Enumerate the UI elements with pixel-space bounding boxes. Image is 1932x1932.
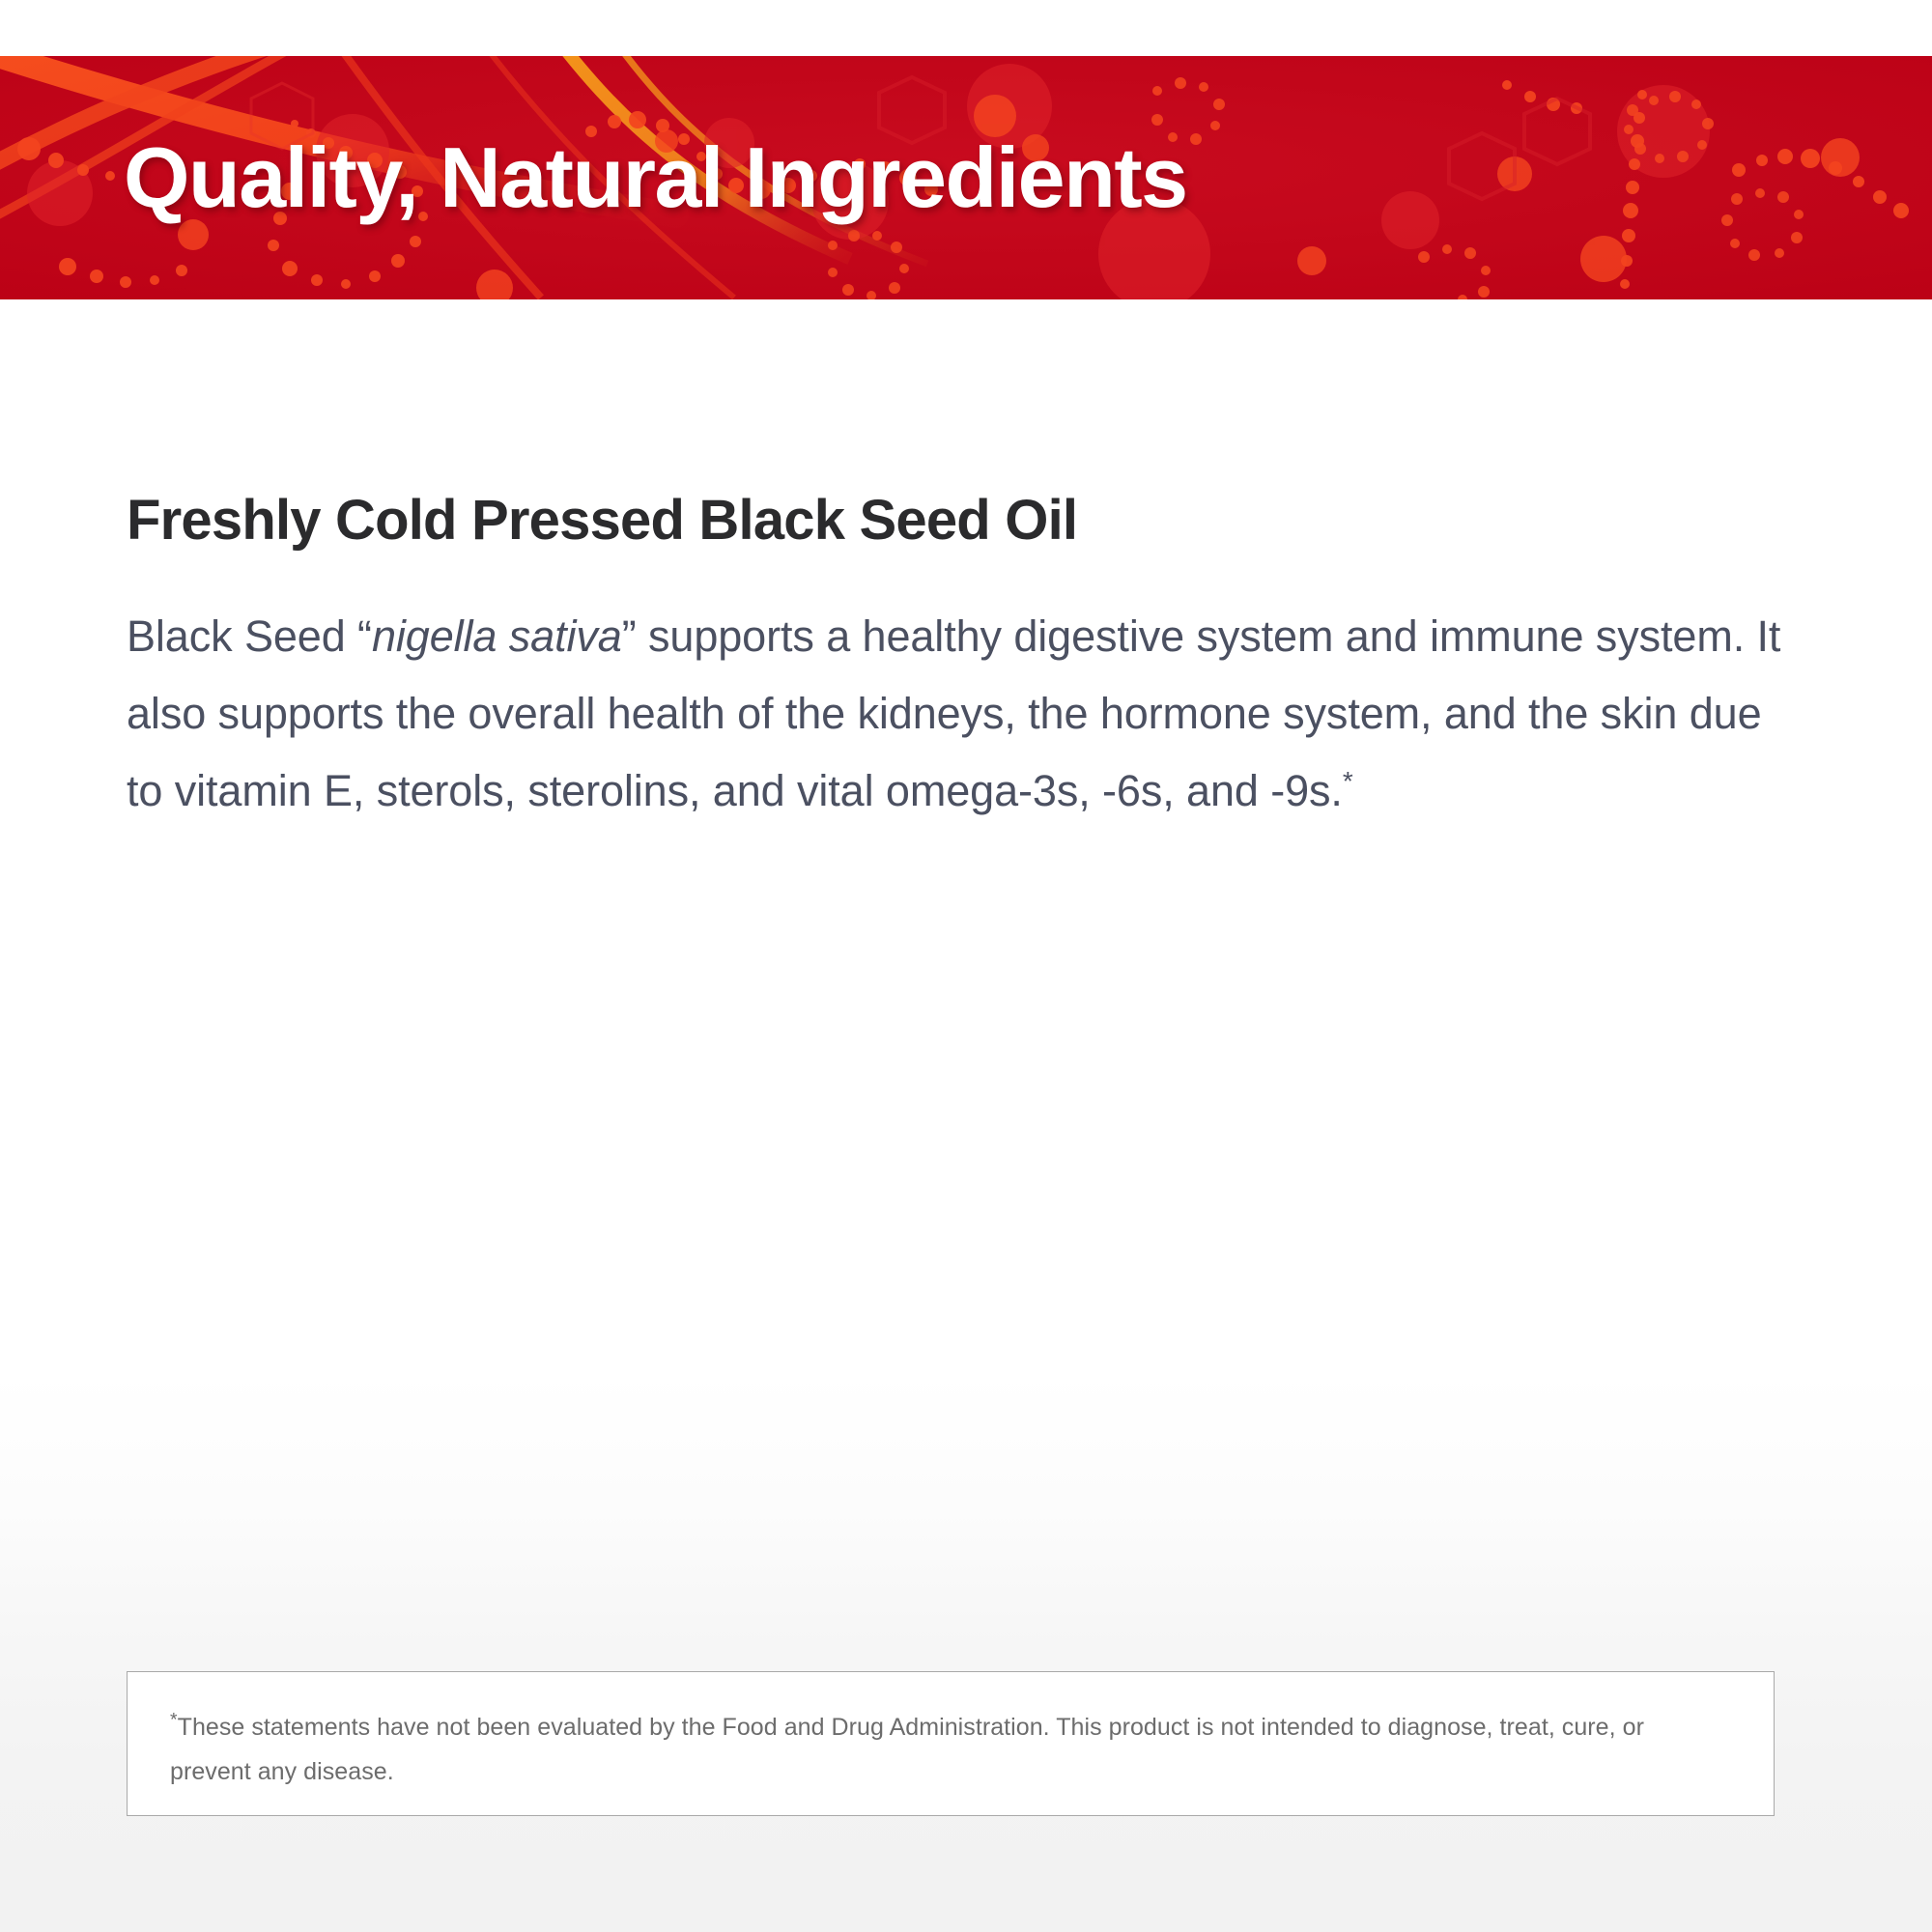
description-part-1: Black Seed <box>127 611 357 661</box>
latin-name-emphasis: nigella sativa <box>372 611 622 661</box>
fda-disclaimer-box: *These statements have not been evaluate… <box>127 1671 1775 1816</box>
quote-open: “ <box>357 611 372 661</box>
footnote-marker: * <box>1343 766 1353 796</box>
product-description: Black Seed “nigella sativa” supports a h… <box>127 598 1788 830</box>
section-heading: Freshly Cold Pressed Black Seed Oil <box>127 488 1788 554</box>
main-content: Freshly Cold Pressed Black Seed Oil Blac… <box>127 488 1788 830</box>
disclaimer-asterisk: * <box>170 1710 178 1731</box>
page-top-strip <box>0 0 1932 56</box>
banner-title: Quality, Natural Ingredients <box>124 135 1187 220</box>
quote-close: ” <box>622 611 637 661</box>
product-info-page: Quality, Natural Ingredients Freshly Col… <box>0 0 1932 1932</box>
hero-banner: Quality, Natural Ingredients <box>0 56 1932 299</box>
disclaimer-body: These statements have not been evaluated… <box>170 1714 1644 1785</box>
fda-disclaimer-text: *These statements have not been evaluate… <box>170 1705 1731 1794</box>
